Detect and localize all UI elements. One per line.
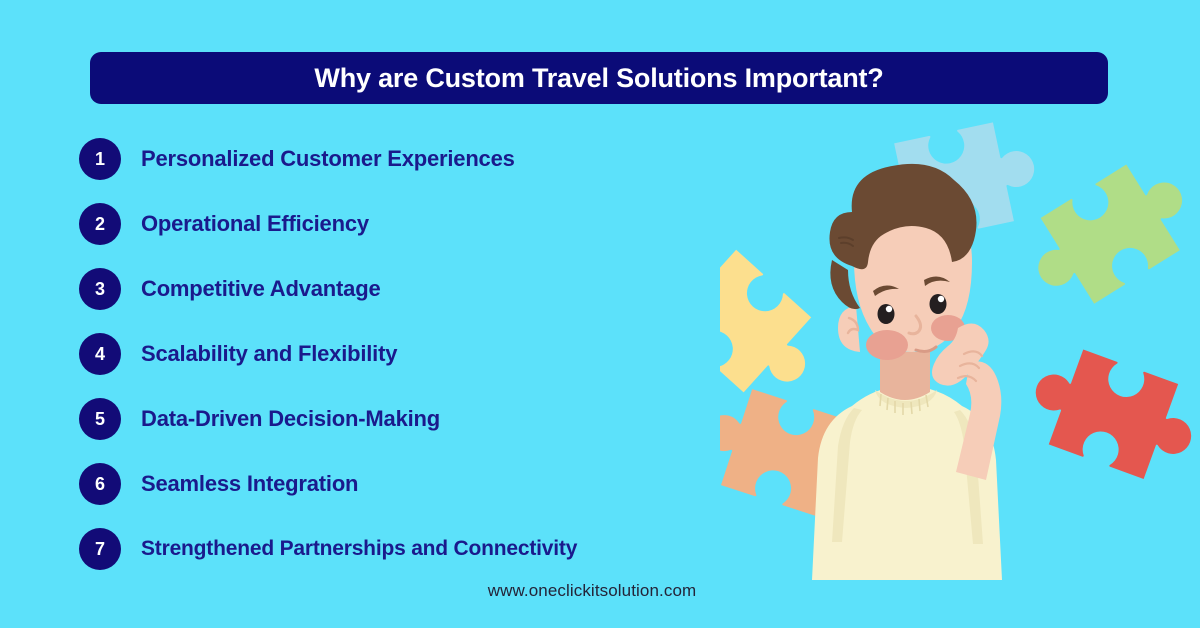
list-item-label: Seamless Integration [141,463,358,505]
puzzle-piece-red-icon [1020,339,1200,490]
benefits-list: 1 Personalized Customer Experiences 2 Op… [79,138,779,593]
list-item-number-badge: 7 [79,528,121,570]
footer-url: www.oneclickitsolution.com [0,581,1200,601]
illustration-thinking-person [720,110,1200,580]
list-item: 3 Competitive Advantage [79,268,779,333]
eye-left-highlight [886,306,892,312]
list-item-number-badge: 5 [79,398,121,440]
list-item: 6 Seamless Integration [79,463,779,528]
page-title: Why are Custom Travel Solutions Importan… [314,63,883,94]
eye-right [930,294,947,314]
list-item: 5 Data-Driven Decision-Making [79,398,779,463]
list-item: 2 Operational Efficiency [79,203,779,268]
list-item-label: Personalized Customer Experiences [141,138,515,180]
character-figure [812,164,1002,580]
list-item-label: Scalability and Flexibility [141,333,397,375]
puzzle-piece-green-icon [1014,148,1200,320]
list-item-label: Competitive Advantage [141,268,380,310]
list-item: 4 Scalability and Flexibility [79,333,779,398]
list-item-number-badge: 6 [79,463,121,505]
cheek-left [866,330,908,360]
puzzle-piece-yellow-icon [720,229,834,413]
list-item-number-badge: 2 [79,203,121,245]
eye-right-highlight [938,296,944,302]
list-item-label: Operational Efficiency [141,203,369,245]
list-item-number-badge: 1 [79,138,121,180]
list-item-label: Data-Driven Decision-Making [141,398,440,440]
eye-left [878,304,895,324]
footer-url-text: www.oneclickitsolution.com [488,581,697,601]
list-item-label: Strengthened Partnerships and Connectivi… [141,528,577,570]
title-banner: Why are Custom Travel Solutions Importan… [90,52,1108,104]
list-item: 1 Personalized Customer Experiences [79,138,779,203]
list-item-number-badge: 4 [79,333,121,375]
list-item-number-badge: 3 [79,268,121,310]
infographic-canvas: Why are Custom Travel Solutions Importan… [0,0,1200,628]
